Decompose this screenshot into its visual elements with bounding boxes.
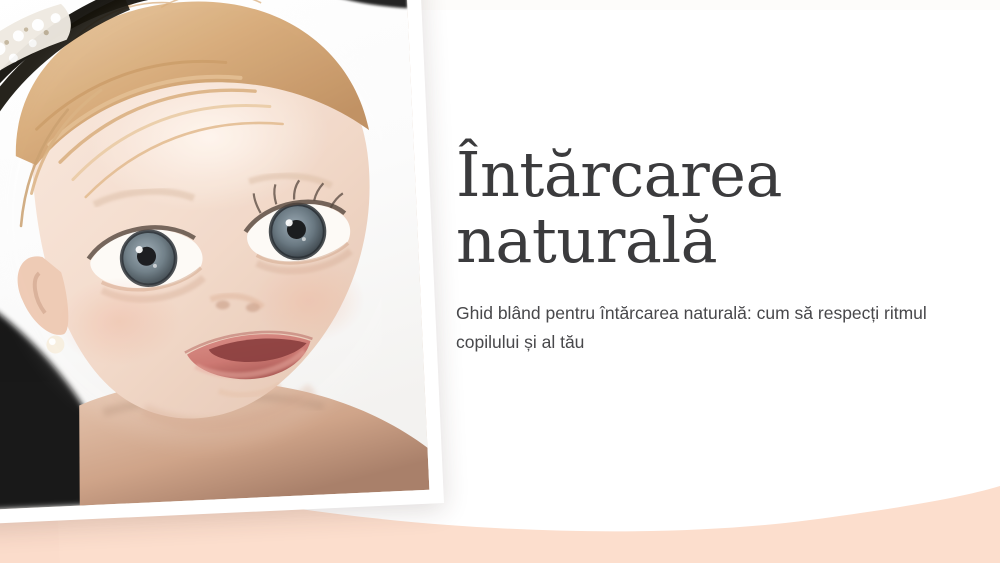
text-column: Întărcarea naturală Ghid blând pentru în… <box>456 142 976 356</box>
photo-image-baby-portrait <box>0 0 429 510</box>
slide-canvas: Întărcarea naturală Ghid blând pentru în… <box>0 0 1000 563</box>
page-subtitle: Ghid blând pentru întărcarea naturală: c… <box>456 299 956 356</box>
baby-portrait-illustration <box>0 0 429 510</box>
page-title: Întărcarea naturală <box>456 142 976 273</box>
photo-card <box>0 0 444 524</box>
